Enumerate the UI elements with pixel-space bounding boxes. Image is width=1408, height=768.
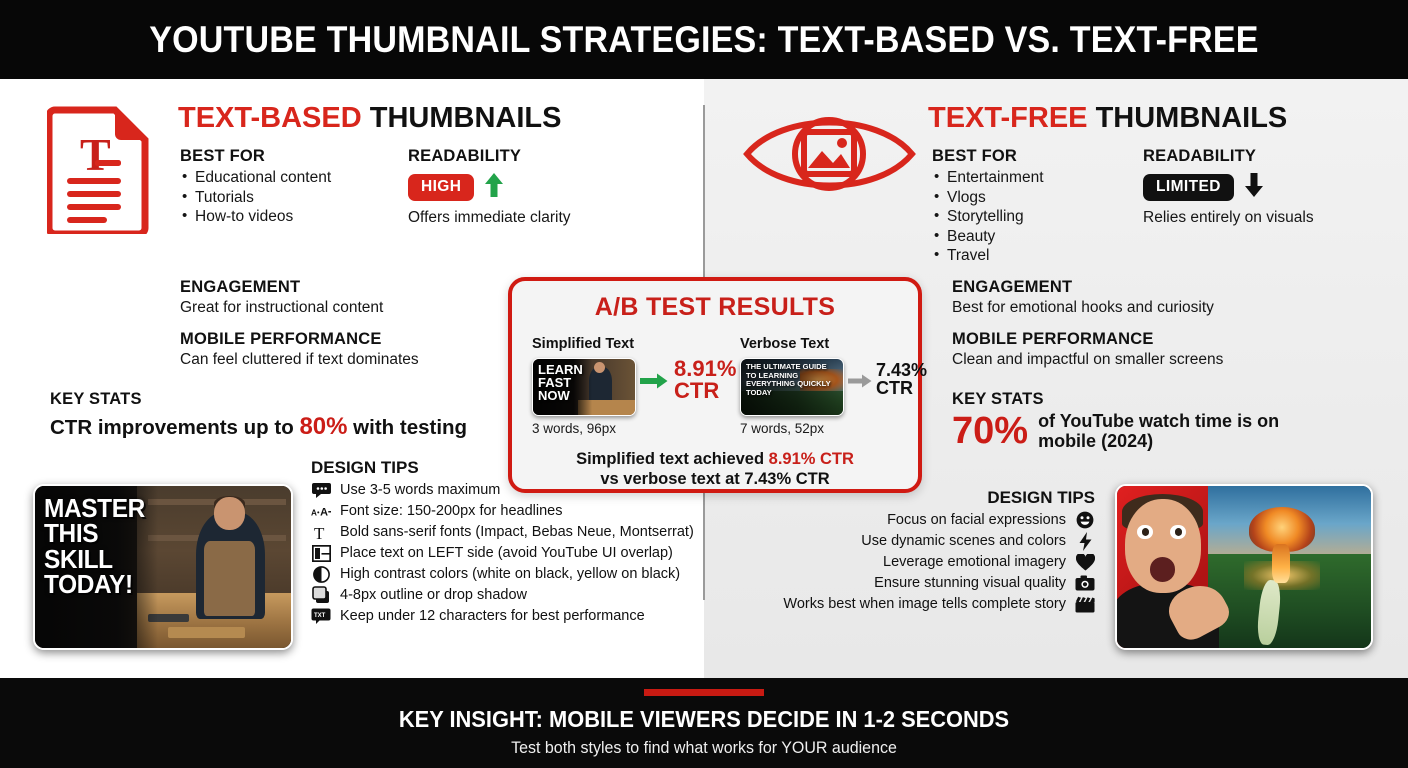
right-key-stats-value: 70%	[952, 411, 1028, 451]
left-engagement-body: Great for instructional content	[180, 299, 383, 317]
left-key-stats-block: KEY STATS CTR improvements up to 80% wit…	[50, 390, 467, 441]
ab-variant-b-ctr-unit: CTR	[876, 379, 927, 397]
left-mobile-body: Can feel cluttered if text dominates	[180, 351, 419, 369]
right-panel-title-accent: TEXT-FREE	[928, 102, 1088, 134]
ab-summary-line-1: Simplified text achieved 8.91% CTR	[512, 449, 918, 469]
left-key-stats-value: 80%	[299, 413, 347, 440]
footer-subtext: Test both styles to find what works for …	[21, 739, 1387, 758]
serif-t-icon: T	[311, 523, 331, 541]
left-best-for-list: Educational content Tutorials How-to vid…	[180, 168, 331, 227]
footer-banner: KEY INSIGHT: MOBILE VIEWERS DECIDE IN 1-…	[0, 678, 1408, 768]
heart-icon	[1075, 553, 1095, 571]
tip-row: T Bold sans-serif fonts (Impact, Bebas N…	[311, 523, 694, 541]
svg-text:A: A	[320, 506, 328, 518]
right-mobile-heading: MOBILE PERFORMANCE	[952, 330, 1223, 349]
tip-row: Place text on LEFT side (avoid YouTube U…	[311, 544, 694, 562]
tip-row: Focus on facial expressions	[752, 511, 1095, 529]
tip-text: High contrast colors (white on black, ye…	[340, 566, 680, 582]
right-key-stats-text-line1: of YouTube watch time is on	[1038, 411, 1279, 431]
green-arrow-icon	[640, 373, 668, 394]
text-based-thumbnail-example: MASTER THIS SKILL TODAY!	[33, 484, 293, 650]
list-item: Beauty	[932, 227, 1044, 247]
right-key-stats-text-line2: mobile (2024)	[1038, 431, 1153, 451]
thumbnail-overlay-text: MASTER THIS SKILL TODAY!	[44, 496, 176, 598]
left-best-for-block: BEST FOR Educational content Tutorials H…	[180, 147, 331, 227]
thumbnail-line: NOW	[538, 389, 583, 402]
arrow-up-icon	[483, 172, 505, 203]
lightning-bolt-icon	[1075, 532, 1095, 550]
text-badge-icon: TXT	[311, 607, 331, 625]
tip-text: Leverage emotional imagery	[883, 554, 1066, 570]
list-item: Educational content	[180, 168, 331, 188]
left-panel-title-rest: THUMBNAILS	[362, 102, 562, 134]
right-engagement-heading: ENGAGEMENT	[952, 278, 1214, 297]
thumbnail-line: TODAY	[746, 389, 831, 398]
left-mobile-block: MOBILE PERFORMANCE Can feel cluttered if…	[180, 330, 419, 369]
page-title: YOUTUBE THUMBNAIL STRATEGIES: TEXT-BASED…	[149, 19, 1258, 61]
right-mobile-body: Clean and impactful on smaller screens	[952, 351, 1223, 369]
thumbnail-artwork	[1117, 486, 1371, 648]
right-design-tips-block: DESIGN TIPS Focus on facial expressions …	[752, 488, 1095, 613]
svg-text:A: A	[311, 508, 317, 517]
right-best-for-block: BEST FOR Entertainment Vlogs Storytellin…	[932, 147, 1044, 266]
gray-arrow-icon	[848, 374, 872, 393]
right-panel-title: TEXT-FREE THUMBNAILS	[928, 102, 1287, 135]
ab-variant-b-ctr-value: 7.43%	[876, 361, 927, 379]
ab-variant-a-thumbnail: LEARN FAST NOW	[532, 358, 636, 416]
list-item: Vlogs	[932, 188, 1044, 208]
tip-text: Bold sans-serif fonts (Impact, Bebas Neu…	[340, 524, 694, 540]
camera-icon	[1075, 574, 1095, 592]
tip-text: Font size: 150-200px for headlines	[340, 503, 562, 519]
tip-row: 4-8px outline or drop shadow	[311, 586, 694, 604]
tip-text: Keep under 12 characters for best perfor…	[340, 608, 645, 624]
left-readability-block: READABILITY HIGH Offers immediate clarit…	[408, 147, 571, 227]
tip-row: AA Font size: 150-200px for headlines	[311, 502, 694, 520]
right-key-stats-block: KEY STATS 70% of YouTube watch time is o…	[952, 390, 1279, 451]
ab-variant-a-ctr-value: 8.91%	[674, 358, 736, 380]
document-text-icon: T	[47, 104, 152, 234]
right-engagement-block: ENGAGEMENT Best for emotional hooks and …	[952, 278, 1214, 317]
tip-text: Use dynamic scenes and colors	[861, 533, 1066, 549]
font-size-icon: AA	[311, 502, 331, 520]
thumbnail-line: THIS SKILL	[44, 521, 168, 572]
tip-row: Leverage emotional imagery	[752, 553, 1095, 571]
ab-test-results-card: A/B TEST RESULTS Simplified Text LEARN F…	[508, 277, 922, 493]
right-readability-note: Relies entirely on visuals	[1143, 209, 1314, 227]
left-readability-heading: READABILITY	[408, 147, 571, 166]
header-banner: YOUTUBE THUMBNAIL STRATEGIES: TEXT-BASED…	[0, 0, 1408, 79]
ab-variant-b-thumb-text: THE ULTIMATE GUIDE TO LEARNING EVERYTHIN…	[746, 363, 831, 397]
tip-row: TXT Keep under 12 characters for best pe…	[311, 607, 694, 625]
left-key-stats-line: CTR improvements up to 80% with testing	[50, 413, 467, 441]
footer-headline: KEY INSIGHT: MOBILE VIEWERS DECIDE IN 1-…	[35, 706, 1373, 733]
smiley-face-icon	[1075, 511, 1095, 529]
layers-icon	[311, 586, 331, 604]
right-mobile-block: MOBILE PERFORMANCE Clean and impactful o…	[952, 330, 1223, 369]
status-badge: HIGH	[408, 174, 474, 201]
left-engagement-heading: ENGAGEMENT	[180, 278, 383, 297]
ab-variant-a-ctr: 8.91% CTR	[674, 358, 736, 403]
svg-text:T: T	[314, 524, 325, 541]
tip-text: Place text on LEFT side (avoid YouTube U…	[340, 545, 673, 561]
tip-text: Focus on facial expressions	[887, 512, 1066, 528]
tip-text: Works best when image tells complete sto…	[783, 596, 1066, 612]
list-item: How-to videos	[180, 207, 331, 227]
tip-row: High contrast colors (white on black, ye…	[311, 565, 694, 583]
left-panel-title: TEXT-BASED THUMBNAILS	[178, 102, 561, 135]
contrast-icon	[311, 565, 331, 583]
svg-text:TXT: TXT	[314, 613, 326, 619]
right-panel-title-rest: THUMBNAILS	[1088, 102, 1288, 134]
ab-variant-b-ctr: 7.43% CTR	[876, 361, 927, 398]
right-readability-block: READABILITY LIMITED Relies entirely on v…	[1143, 147, 1314, 227]
footer-accent-bar	[644, 689, 764, 696]
right-readability-heading: READABILITY	[1143, 147, 1314, 166]
right-best-for-list: Entertainment Vlogs Storytelling Beauty …	[932, 168, 1044, 266]
tip-row: Ensure stunning visual quality	[752, 574, 1095, 592]
text-free-thumbnail-example	[1115, 484, 1373, 650]
svg-text:T: T	[80, 129, 111, 180]
arrow-down-icon	[1243, 172, 1265, 203]
tip-row: Use dynamic scenes and colors	[752, 532, 1095, 550]
left-panel-title-accent: TEXT-BASED	[178, 102, 362, 134]
list-item: Storytelling	[932, 207, 1044, 227]
ab-summary-highlight: 8.91% CTR	[769, 450, 854, 468]
left-engagement-block: ENGAGEMENT Great for instructional conte…	[180, 278, 383, 317]
ab-test-summary: Simplified text achieved 8.91% CTR vs ve…	[512, 449, 918, 489]
ab-variant-a-thumb-text: LEARN FAST NOW	[538, 363, 583, 402]
ab-variant-a-caption: 3 words, 96px	[532, 421, 707, 436]
list-item: Travel	[932, 246, 1044, 266]
ab-variant-b-caption: 7 words, 52px	[740, 421, 915, 436]
status-badge: LIMITED	[1143, 174, 1234, 201]
ab-test-title: A/B TEST RESULTS	[512, 293, 918, 322]
right-best-for-heading: BEST FOR	[932, 147, 1044, 166]
left-mobile-heading: MOBILE PERFORMANCE	[180, 330, 419, 349]
tip-text: 4-8px outline or drop shadow	[340, 587, 527, 603]
left-key-stats-suffix: with testing	[347, 416, 467, 439]
ab-variant-a-label: Simplified Text	[532, 336, 707, 352]
tip-text: Use 3-5 words maximum	[340, 482, 500, 498]
layout-panel-icon	[311, 544, 331, 562]
left-best-for-heading: BEST FOR	[180, 147, 331, 166]
clapperboard-icon	[1075, 595, 1095, 613]
eye-image-icon	[742, 108, 917, 200]
left-key-stats-heading: KEY STATS	[50, 390, 467, 409]
speech-bubble-icon	[311, 481, 331, 499]
right-engagement-body: Best for emotional hooks and curiosity	[952, 299, 1214, 317]
ab-summary-pre: Simplified text achieved	[576, 450, 769, 468]
left-readability-note: Offers immediate clarity	[408, 209, 571, 227]
ab-variant-b-thumbnail: THE ULTIMATE GUIDE TO LEARNING EVERYTHIN…	[740, 358, 844, 416]
right-key-stats-heading: KEY STATS	[952, 390, 1279, 409]
ab-summary-line-2: vs verbose text at 7.43% CTR	[512, 469, 918, 489]
ab-variant-a-ctr-unit: CTR	[674, 380, 736, 402]
list-item: Entertainment	[932, 168, 1044, 188]
thumbnail-line: TODAY!	[44, 572, 168, 597]
tip-row: Works best when image tells complete sto…	[752, 595, 1095, 613]
tip-text: Ensure stunning visual quality	[874, 575, 1066, 591]
left-key-stats-prefix: CTR improvements up to	[50, 416, 299, 439]
ab-variant-b-label: Verbose Text	[740, 336, 915, 352]
list-item: Tutorials	[180, 188, 331, 208]
right-key-stats-text: of YouTube watch time is on mobile (2024…	[1038, 411, 1279, 451]
